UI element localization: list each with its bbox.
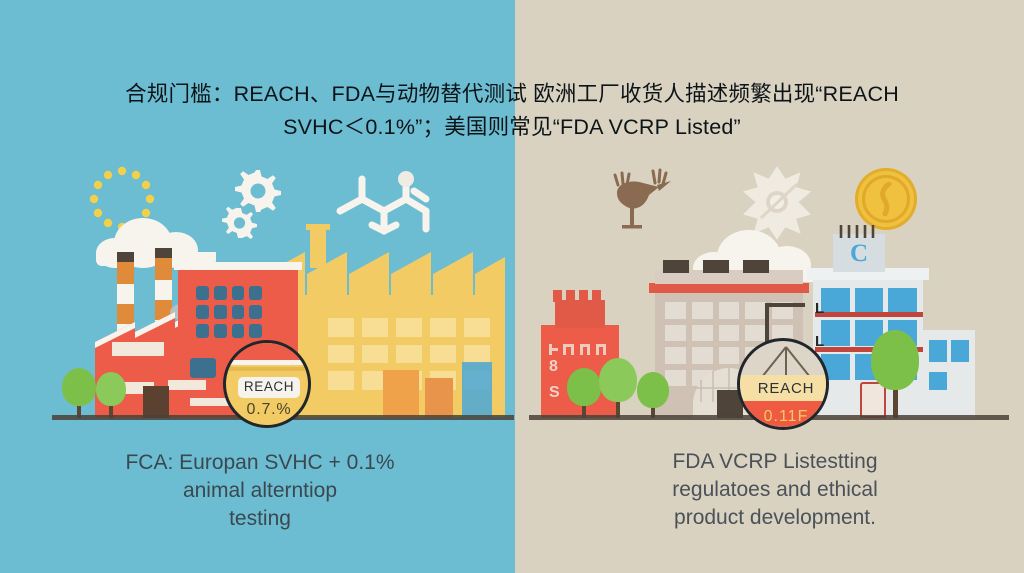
storage-tank-small xyxy=(425,378,453,418)
reach-badge-value: 0.11F xyxy=(737,407,829,427)
factory-band-1 xyxy=(112,342,164,356)
brick-crenellations xyxy=(553,288,609,302)
tree xyxy=(62,368,96,418)
yellow-chimney-cap xyxy=(306,224,330,230)
tree xyxy=(599,358,637,418)
right-caption: FDA VCRP Listestting regulatoes and ethi… xyxy=(560,448,990,532)
gears-icon xyxy=(222,168,300,245)
annex-windows xyxy=(929,340,969,362)
left-caption-line-3: testing xyxy=(40,505,480,533)
storage-tank xyxy=(383,370,419,418)
headline-line-2: SVHC＜0.1%”；美国则常见“FDA VCRP Listed” xyxy=(90,111,934,144)
left-caption-line-1: FCA: Europan SVHC + 0.1% xyxy=(40,449,480,477)
factory-band-4 xyxy=(190,398,230,406)
tree xyxy=(871,330,919,418)
left-caption: FCA: Europan SVHC + 0.1% animal alternti… xyxy=(40,449,480,533)
magnifier-right: REACH 0.11F xyxy=(737,338,829,430)
slide-canvas: REACH 0.7.% xyxy=(0,0,1024,573)
brick-tower-top xyxy=(555,300,605,328)
magnifier-left: REACH 0.7.% xyxy=(223,340,311,428)
mid-building-roof-blocks xyxy=(659,258,801,274)
yellow-factory-roof xyxy=(265,252,505,300)
headline-line-1: 合规门槛：REACH、FDA与动物替代测试 欧洲工厂收货人描述频繁出现“REAC… xyxy=(125,82,899,106)
letter-c-logo-icon: C xyxy=(835,240,883,268)
tree xyxy=(96,372,126,418)
rooftop-antennas xyxy=(837,224,883,238)
tower-windows-row1 xyxy=(821,288,917,314)
mid-building-cornice xyxy=(649,283,809,293)
red-factory-roof-trim xyxy=(174,262,302,270)
molecule-icon xyxy=(328,165,438,242)
tree xyxy=(637,372,669,418)
factory-door xyxy=(143,386,169,418)
yellow-chimney xyxy=(310,228,326,268)
brick-letter-1: 8 xyxy=(549,358,558,376)
left-caption-line-2: animal alterntiop xyxy=(40,477,480,505)
right-caption-line-1: FDA VCRP Listestting xyxy=(560,448,990,476)
annex-window-single xyxy=(929,372,947,390)
blue-side-building xyxy=(462,362,492,418)
reach-badge-value: 0.7.% xyxy=(234,401,304,419)
bird-icon xyxy=(605,165,675,240)
right-caption-line-3: product development. xyxy=(560,504,990,532)
factory-window-large xyxy=(190,358,216,378)
brick-letter-2: S xyxy=(549,384,560,402)
gold-coin-icon xyxy=(855,168,917,230)
headline: 合规门槛：REACH、FDA与动物替代测试 欧洲工厂收货人描述频繁出现“REAC… xyxy=(0,78,1024,144)
red-factory-windows xyxy=(196,286,262,338)
factory-band-3 xyxy=(168,380,206,390)
reach-badge-label: REACH xyxy=(737,379,829,399)
right-caption-line-2: regulatoes and ethical xyxy=(560,476,990,504)
tower-red-band-1 xyxy=(815,312,923,317)
reach-badge-label: REACH xyxy=(238,377,300,398)
brick-letter-row xyxy=(547,344,615,356)
tower-letter-1: L xyxy=(815,300,824,317)
tree xyxy=(567,368,601,418)
